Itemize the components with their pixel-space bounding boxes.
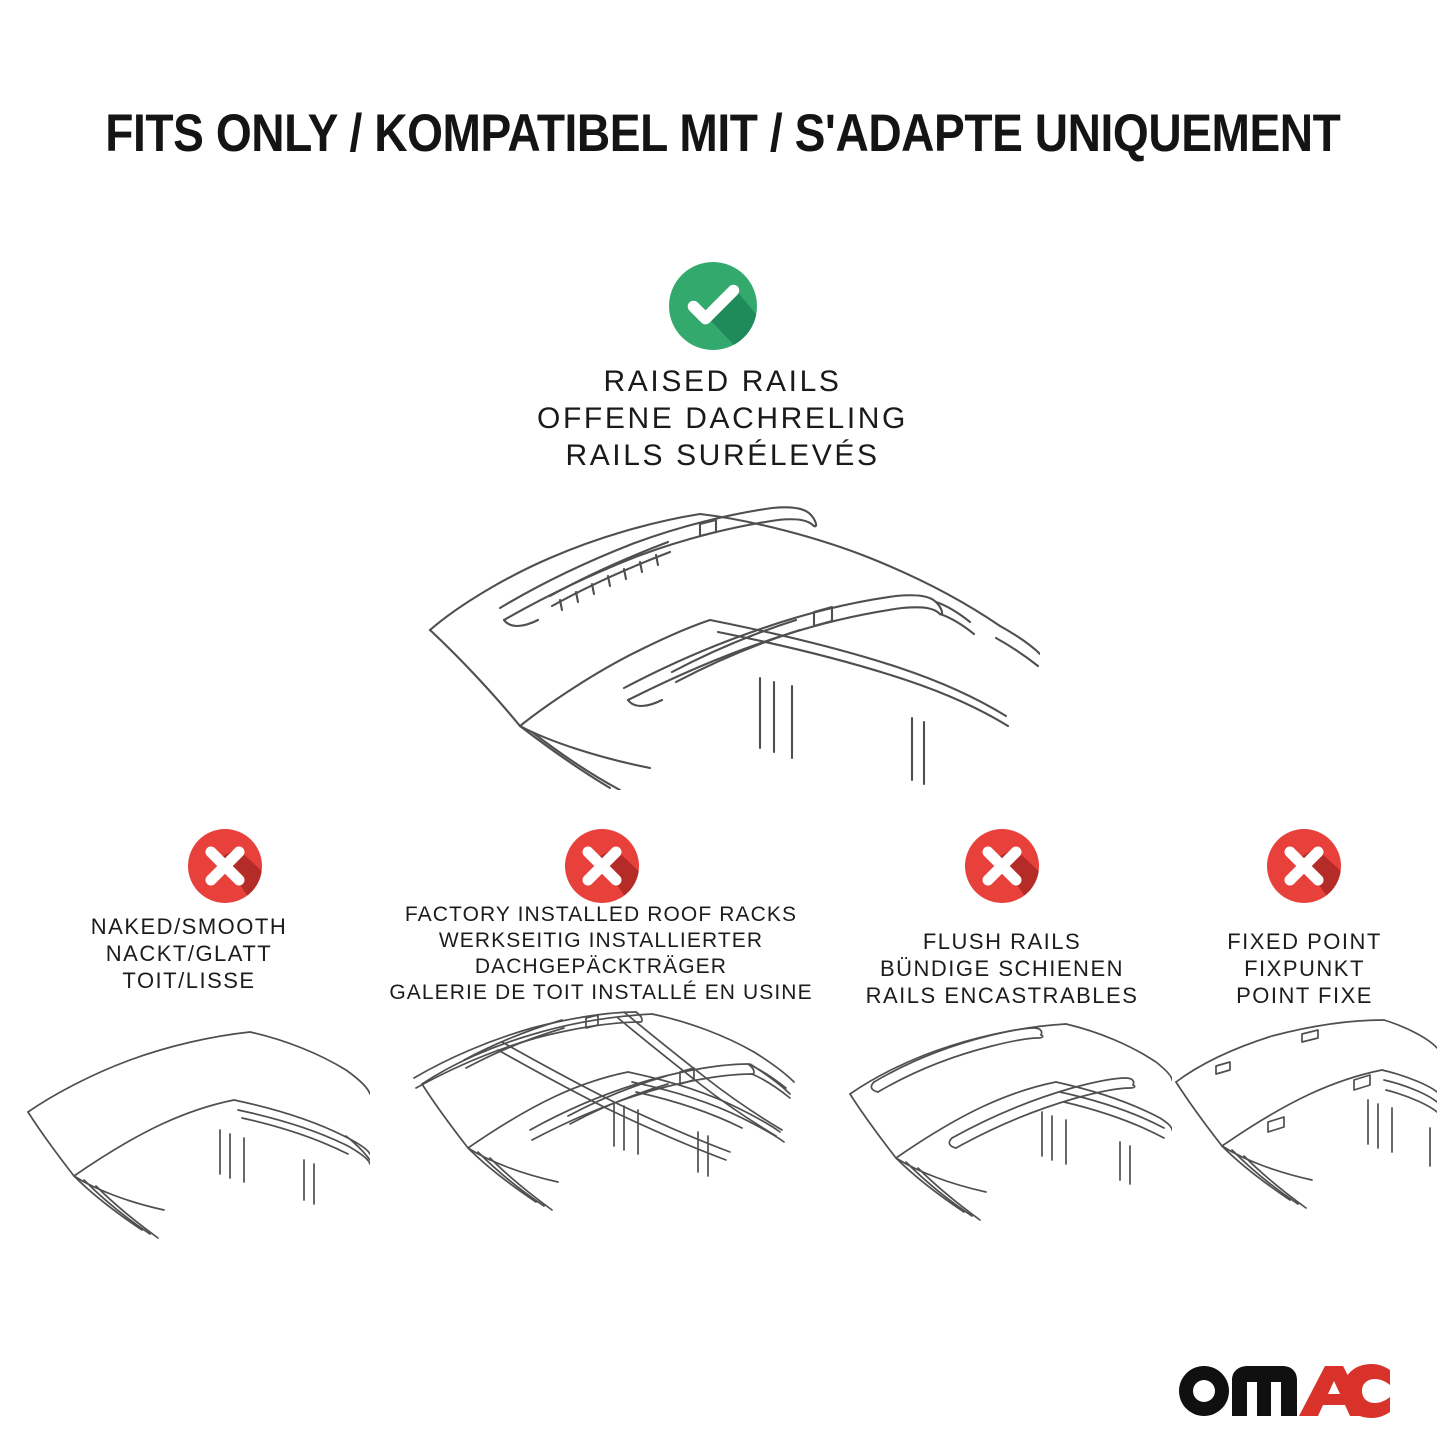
- incompatible-labels: FACTORY INSTALLED ROOF RACKS WERKSEITIG …: [370, 902, 832, 1006]
- incompatible-label-de-1: WERKSEITIG INSTALLIERTER: [370, 928, 832, 954]
- compatible-labels: RAISED RAILS OFFENE DACHRELING RAILS SUR…: [0, 363, 1445, 474]
- incompatible-label-de: FIXPUNKT: [1172, 955, 1437, 982]
- page-title-text: FITS ONLY / KOMPATIBEL MIT / S'ADAPTE UN…: [105, 104, 1340, 164]
- incompatible-sections: NAKED/SMOOTH NACKT/GLATT TOIT/LISSE: [0, 800, 1445, 1270]
- omac-logo: [1175, 1358, 1390, 1420]
- incompatible-item-factory-roof-racks: FACTORY INSTALLED ROOF RACKS WERKSEITIG …: [370, 800, 832, 1270]
- x-circle-icon: [1264, 826, 1344, 906]
- incompatible-label-en: FLUSH RAILS: [832, 928, 1172, 955]
- car-roof-flush-rails-illustration: [832, 1018, 1172, 1248]
- car-roof-naked-smooth-illustration: [8, 1018, 370, 1248]
- incompatible-item-fixed-point: FIXED POINT FIXPUNKT POINT FIXE: [1172, 800, 1437, 1270]
- check-circle-icon: [665, 258, 761, 354]
- incompatible-item-naked-smooth: NAKED/SMOOTH NACKT/GLATT TOIT/LISSE: [8, 800, 370, 1270]
- car-roof-fixed-point-illustration: [1172, 1018, 1437, 1248]
- compatible-label-fr: RAILS SURÉLEVÉS: [0, 437, 1445, 474]
- product-fitment-diagram: FITS ONLY / KOMPATIBEL MIT / S'ADAPTE UN…: [0, 0, 1445, 1445]
- incompatible-label-fr: RAILS ENCASTRABLES: [832, 982, 1172, 1009]
- compatible-label-de: OFFENE DACHRELING: [0, 400, 1445, 437]
- x-circle-icon: [562, 826, 642, 906]
- incompatible-labels: FIXED POINT FIXPUNKT POINT FIXE: [1172, 928, 1437, 1009]
- incompatible-label-fr: TOIT/LISSE: [8, 967, 370, 994]
- page-title: FITS ONLY / KOMPATIBEL MIT / S'ADAPTE UN…: [0, 104, 1445, 164]
- incompatible-label-en: FACTORY INSTALLED ROOF RACKS: [370, 902, 832, 928]
- incompatible-labels: NAKED/SMOOTH NACKT/GLATT TOIT/LISSE: [8, 913, 370, 994]
- x-circle-icon: [185, 826, 265, 906]
- incompatible-label-fr: GALERIE DE TOIT INSTALLÉ EN USINE: [370, 980, 832, 1006]
- incompatible-item-flush-rails: FLUSH RAILS BÜNDIGE SCHIENEN RAILS ENCAS…: [832, 800, 1172, 1270]
- incompatible-label-fr: POINT FIXE: [1172, 982, 1437, 1009]
- car-roof-factory-roof-racks-illustration: [370, 1006, 832, 1248]
- incompatible-label-de: NACKT/GLATT: [8, 940, 370, 967]
- incompatible-label-de: BÜNDIGE SCHIENEN: [832, 955, 1172, 982]
- incompatible-label-en: FIXED POINT: [1172, 928, 1437, 955]
- compatible-label-en: RAISED RAILS: [0, 363, 1445, 400]
- car-roof-raised-rails-illustration: [400, 480, 1040, 790]
- incompatible-labels: FLUSH RAILS BÜNDIGE SCHIENEN RAILS ENCAS…: [832, 928, 1172, 1009]
- x-circle-icon: [962, 826, 1042, 906]
- incompatible-label-de-2: DACHGEPÄCKTRÄGER: [370, 954, 832, 980]
- incompatible-label-en: NAKED/SMOOTH: [8, 913, 370, 940]
